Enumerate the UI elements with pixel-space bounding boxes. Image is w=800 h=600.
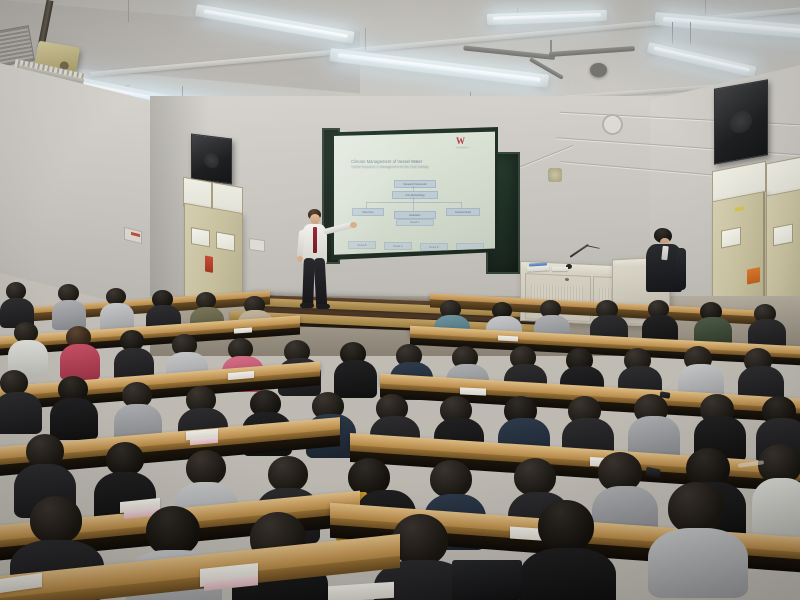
desk-notebook (460, 387, 486, 395)
student-head (268, 456, 308, 492)
right-door-glass-2 (773, 223, 793, 246)
wall-fixture (548, 168, 562, 182)
desk-paper-front (328, 582, 394, 600)
student-body (0, 392, 42, 434)
student-body (648, 528, 748, 598)
presenter-hand-left (297, 256, 303, 262)
console-knob-left[interactable] (565, 278, 569, 281)
presenter-leg-left (302, 258, 315, 306)
projection-screen-surface: W UNIVERSITY Climate Management of Vesse… (334, 131, 495, 256)
light-hanger (690, 22, 691, 44)
assistant-arm (676, 248, 686, 290)
lecture-hall-photo: W UNIVERSITY Climate Management of Vesse… (0, 0, 800, 600)
right-door-glass-1 (721, 227, 741, 249)
desk-notebook (498, 335, 518, 341)
student-head (514, 458, 556, 496)
presenter-tie (313, 227, 317, 253)
student-head (106, 442, 144, 476)
wall-speaker-left (191, 133, 232, 184)
light-hanger (128, 0, 129, 22)
left-door-glass-1 (191, 227, 210, 247)
left-door-glass-2 (216, 231, 235, 251)
student-head (668, 482, 724, 534)
student-body (334, 360, 377, 398)
fan-hub (590, 63, 607, 77)
student-body (50, 398, 98, 440)
student-head (26, 434, 64, 468)
light-hanger (672, 22, 673, 44)
fire-extinguisher-sign (205, 256, 213, 273)
student-head (430, 460, 472, 498)
left-wall-switch-plate[interactable] (249, 238, 265, 252)
wall-clock (602, 114, 623, 135)
console-papers-2 (552, 267, 568, 271)
student-head (30, 496, 82, 544)
presenter-shoe-right (316, 304, 330, 309)
projection-screen-frame: W UNIVERSITY Climate Management of Vesse… (331, 127, 498, 260)
student-head (392, 514, 448, 566)
right-door-exit-notice (747, 267, 760, 285)
student-body (752, 478, 800, 536)
right-door-label (735, 206, 744, 212)
student-body (60, 344, 100, 380)
left-transom-mullion (211, 182, 213, 210)
wall-speaker-right (714, 79, 768, 165)
screen-glare (334, 131, 495, 256)
presenter-shoe-left (300, 303, 314, 308)
presenter-hand-right (350, 222, 357, 228)
student-body (520, 548, 616, 600)
desk-bag (452, 560, 522, 600)
student-head (146, 506, 200, 556)
light-hanger (705, 0, 706, 14)
student-head (538, 500, 594, 552)
student-head (186, 450, 226, 486)
light-hanger (365, 28, 366, 50)
